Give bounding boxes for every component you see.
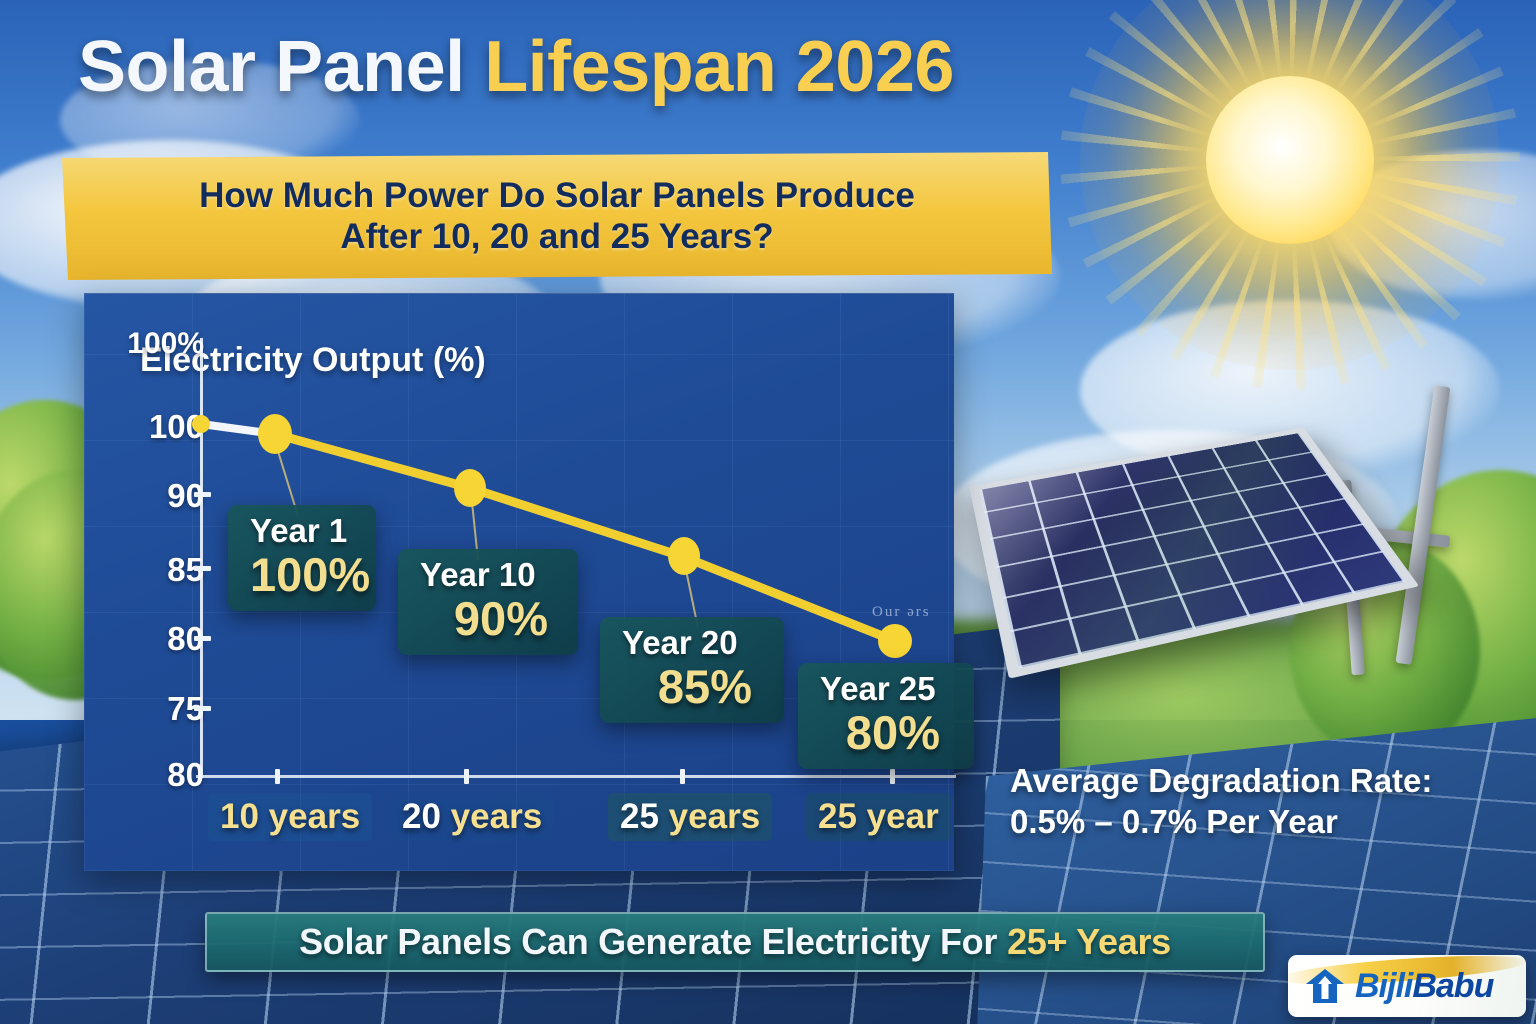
bottom-banner: Solar Panels Can Generate Electricity Fo… [205,912,1265,972]
callout-label: Year 1 [250,513,354,550]
x-axis-tick [275,769,280,784]
y-axis-tick [194,492,211,497]
y-axis-label: 80 [108,756,204,794]
x-axis-label-unit: year [867,797,939,836]
y-axis-tick [194,566,211,571]
callout-year-20: Year 20 85% [600,617,784,723]
subtitle-line-2: After 10, 20 and 25 Years? [340,216,773,257]
y-axis-label: 90 [108,477,204,515]
y-axis-label: 75 [108,690,204,728]
x-axis-label: 20 years [390,793,554,841]
brand-name-part2: Babu [1412,967,1493,1005]
callout-label: Year 25 [820,671,952,708]
sun-icon [1080,0,1500,340]
callout-year-25: Year 25 80% [798,663,974,769]
degradation-line-2: 0.5% – 0.7% Per Year [1010,801,1510,842]
callout-year-10: Year 10 90% [398,549,578,655]
x-axis-label: 25 year [806,793,951,841]
x-axis-label-unit: years [451,797,542,836]
x-axis-label-number: 25 [620,797,659,836]
brand-name-part1: Bijli [1355,967,1412,1005]
x-axis-label-unit: years [669,797,760,836]
x-axis-line [196,775,956,778]
callout-year-1: Year 1 100% [228,505,376,611]
artifact-text: Our ərs [872,604,931,621]
degradation-note: Average Degradation Rate: 0.5% – 0.7% Pe… [1010,760,1510,843]
page-title-white: Solar Panel [78,27,465,107]
callout-label: Year 10 [420,557,556,594]
x-axis-tick [680,769,685,784]
y-axis-label: 85 [108,551,204,589]
y-axis-label: 100% [108,327,204,361]
callout-value: 85% [622,662,762,711]
brand-logo-text: BijliBabu [1355,967,1493,1006]
banner-text-white: Solar Panels Can Generate Electricity Fo… [299,921,997,963]
callout-value: 100% [250,550,354,599]
subtitle-ribbon: How Much Power Do Solar Panels Produce A… [62,152,1052,280]
page-title-yellow: Lifespan 2026 [484,27,954,107]
banner-text-yellow: 25+ Years [1007,921,1171,963]
callout-label: Year 20 [622,625,762,662]
x-axis-label-number: 25 [818,797,857,836]
x-axis-label: 10 years [208,793,372,841]
brand-logo[interactable]: BijliBabu [1288,955,1526,1017]
callout-value: 90% [420,594,556,643]
x-axis-tick [464,769,469,784]
x-axis-label-number: 10 [220,797,259,836]
x-axis-label-number: 20 [402,797,441,836]
x-axis-label: 25 years [608,793,772,841]
page-title: Solar Panel Lifespan 2026 [78,26,954,108]
degradation-line-1: Average Degradation Rate: [1010,760,1510,801]
y-axis-label: 80 [108,620,204,658]
y-axis-tick [194,636,211,641]
subtitle-line-1: How Much Power Do Solar Panels Produce [199,175,915,216]
y-axis-label: 100 [108,408,204,446]
house-arrow-icon [1304,967,1346,1005]
y-axis-line [200,338,203,778]
x-axis-tick [890,769,895,784]
x-axis-label-unit: years [269,797,360,836]
y-axis-tick [194,706,211,711]
sun-core [1206,76,1374,244]
callout-value: 80% [820,708,952,757]
